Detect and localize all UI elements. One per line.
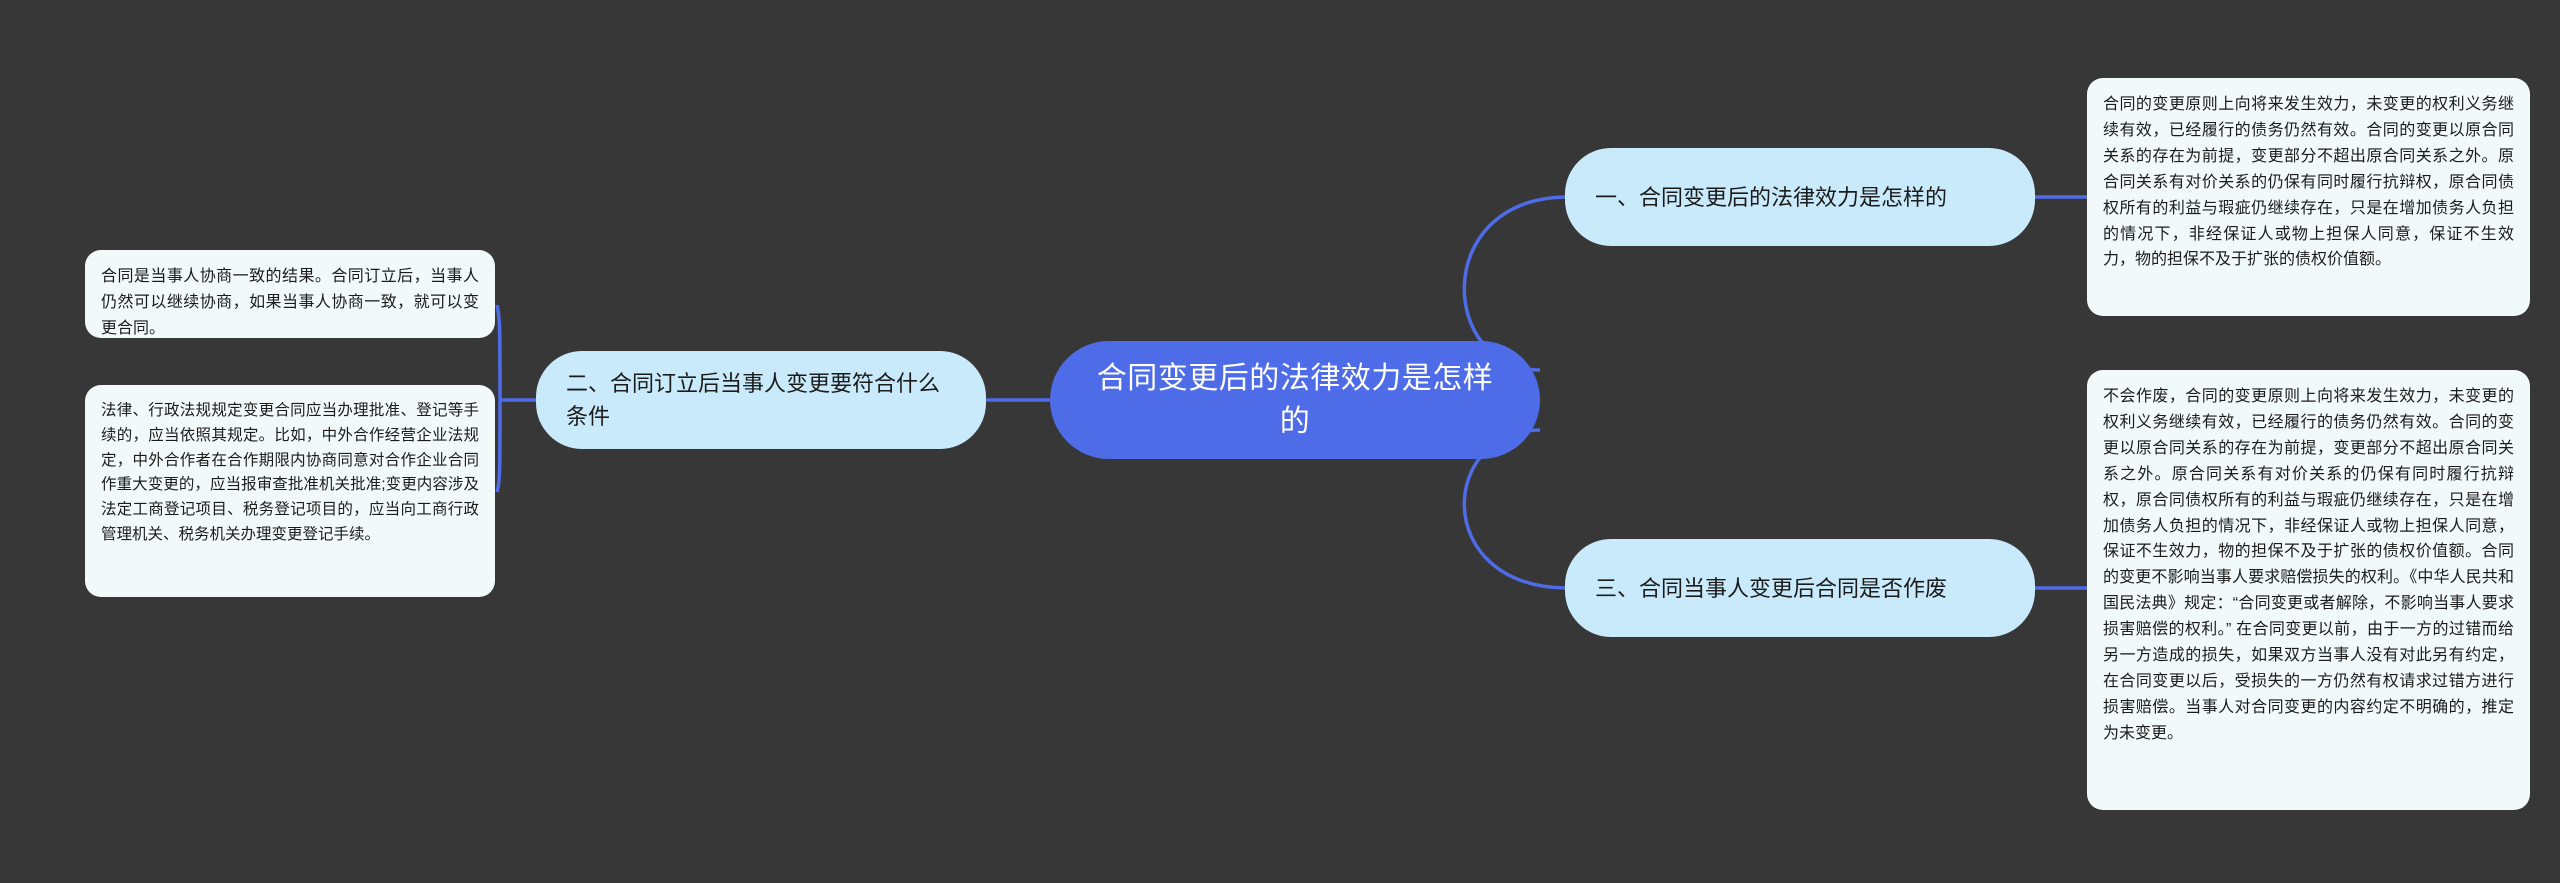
leaf-card-1-text: 合同的变更原则上向将来发生效力，未变更的权利义务继续有效，已经履行的债务仍然有效… — [2103, 96, 2514, 268]
branch-node-1-label: 一、合同变更后的法律效力是怎样的 — [1595, 181, 1947, 214]
branch-node-3-label: 三、合同当事人变更后合同是否作废 — [1595, 572, 1947, 605]
central-topic-label: 合同变更后的法律效力是怎样的 — [1084, 357, 1506, 444]
leaf-card-3-text: 法律、行政法规规定变更合同应当办理批准、登记等手续的，应当依照其规定。比如，中外… — [101, 402, 479, 543]
leaf-card-2[interactable]: 合同是当事人协商一致的结果。合同订立后，当事人仍然可以继续协商，如果当事人协商一… — [85, 250, 495, 338]
leaf-card-3[interactable]: 法律、行政法规规定变更合同应当办理批准、登记等手续的，应当依照其规定。比如，中外… — [85, 385, 495, 597]
leaf-card-2-text: 合同是当事人协商一致的结果。合同订立后，当事人仍然可以继续协商，如果当事人协商一… — [101, 268, 479, 337]
leaf-card-4[interactable]: 不会作废，合同的变更原则上向将来发生效力，未变更的权利义务继续有效，已经履行的债… — [2087, 370, 2530, 810]
connector-branch2-leaf3 — [497, 400, 500, 492]
branch-node-2[interactable]: 二、合同订立后当事人变更要符合什么条件 — [536, 351, 986, 449]
branch-node-2-label: 二、合同订立后当事人变更要符合什么条件 — [566, 367, 956, 433]
connector-branch2-leaf2 — [497, 305, 500, 400]
leaf-card-4-text: 不会作废，合同的变更原则上向将来发生效力，未变更的权利义务继续有效，已经履行的债… — [2103, 388, 2514, 742]
mindmap-canvas: 合同变更后的法律效力是怎样的 一、合同变更后的法律效力是怎样的 二、合同订立后当… — [0, 0, 2560, 883]
branch-node-1[interactable]: 一、合同变更后的法律效力是怎样的 — [1565, 148, 2035, 246]
central-topic-node[interactable]: 合同变更后的法律效力是怎样的 — [1050, 341, 1540, 459]
branch-node-3[interactable]: 三、合同当事人变更后合同是否作废 — [1565, 539, 2035, 637]
leaf-card-1[interactable]: 合同的变更原则上向将来发生效力，未变更的权利义务继续有效，已经履行的债务仍然有效… — [2087, 78, 2530, 316]
